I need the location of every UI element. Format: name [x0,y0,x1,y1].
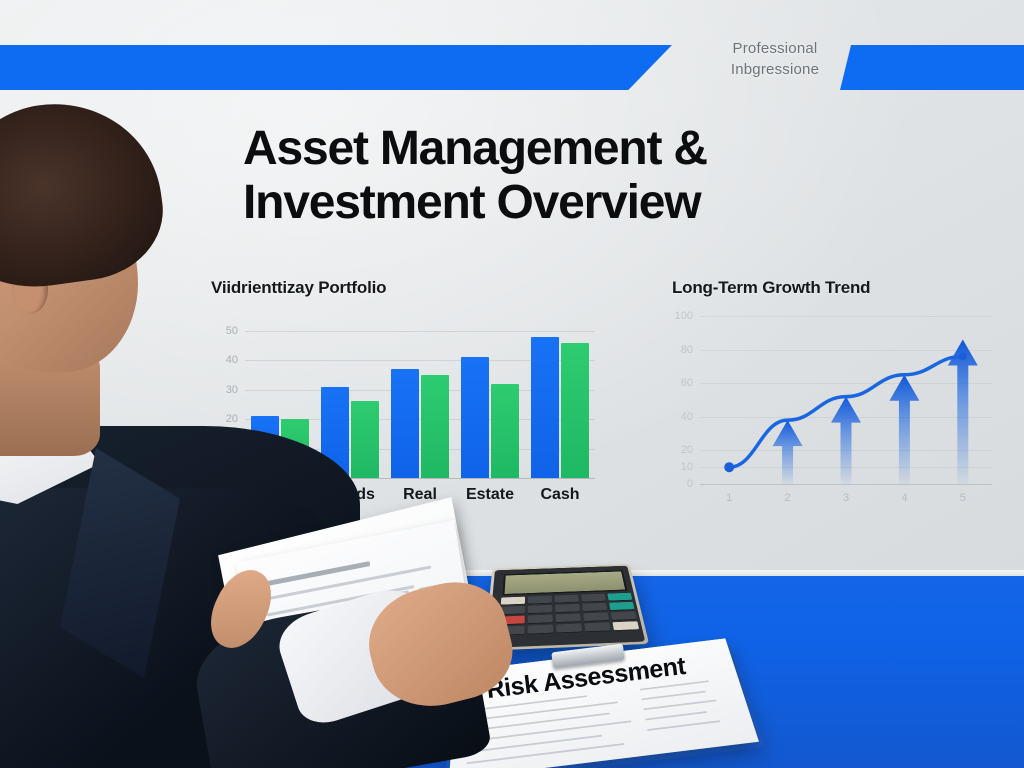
bar-series-b[interactable] [491,384,519,478]
bar-series-b[interactable] [561,343,589,478]
line-chart-panel: Long-Term Growth Trend 01020406080100123… [668,278,998,518]
calculator-key[interactable] [556,613,581,622]
bar-chart-x-label: Cash [510,486,610,504]
line-chart-y-tick: 10 [681,461,693,473]
banner-bar-right [840,45,1024,90]
growth-arrow-icon [831,397,861,484]
line-chart-x-tick: 2 [785,492,791,504]
bar-series-a[interactable] [391,369,419,478]
calculator-key[interactable] [612,621,639,630]
hair [0,90,172,297]
bar-series-a[interactable] [461,357,489,478]
calculator-key[interactable] [581,594,606,602]
bar-series-b[interactable] [421,375,449,478]
line-chart-y-tick: 20 [681,444,693,456]
line-chart-y-tick: 100 [675,310,693,322]
bar-series-a[interactable] [531,337,559,478]
line-chart-x-tick: 3 [843,492,849,504]
calculator-key[interactable] [555,595,579,603]
line-chart-title: Long-Term Growth Trend [672,278,870,298]
growth-arrow-icon [889,375,919,484]
banner-bar-left [0,45,672,90]
calculator-key[interactable] [584,622,610,631]
slide-canvas: Professional Inbgressione Asset Manageme… [0,0,1024,768]
calculator-key[interactable] [528,615,553,624]
brand-line-1: Professional [700,38,850,59]
calculator-keypad[interactable] [499,593,640,635]
line-chart-x-tick: 1 [726,492,732,504]
calculator-key[interactable] [582,603,607,611]
line-chart-x-tick: 4 [901,492,907,504]
calculator-key[interactable] [528,625,554,634]
calculator-key[interactable] [528,596,552,604]
line-chart-graphics [700,316,992,486]
bar-group[interactable]: Real [391,316,449,478]
bar-group[interactable]: Estate [461,316,519,478]
calculator-key[interactable] [611,611,637,620]
growth-arrow-icon [773,420,803,484]
line-chart-x-tick: 5 [960,492,966,504]
calculator-key[interactable] [583,612,609,621]
brand-line-2: Inbgressione [700,59,850,80]
brand-logo-text: Professional Inbgressione [700,38,850,80]
calculator-key[interactable] [528,605,553,613]
growth-arrow-icon [948,340,978,484]
line-chart-y-tick: 80 [681,344,693,356]
line-chart-y-tick: 60 [681,377,693,389]
calculator-body [488,566,646,648]
line-chart-y-tick: 40 [681,411,693,423]
header-banner [0,45,1024,90]
bar-group[interactable]: Cash [531,316,589,478]
line-chart-plot-area: 0102040608010012345 [700,316,992,484]
data-point-marker[interactable] [959,352,967,360]
calculator-display [502,570,627,595]
calculator-key[interactable] [556,623,582,632]
calculator-key[interactable] [607,593,632,601]
calculator-key[interactable] [555,604,580,612]
calculator-key[interactable] [609,602,634,610]
calculator-key[interactable] [501,597,525,605]
line-chart-y-tick: 0 [687,478,693,490]
data-point-marker[interactable] [724,462,734,472]
